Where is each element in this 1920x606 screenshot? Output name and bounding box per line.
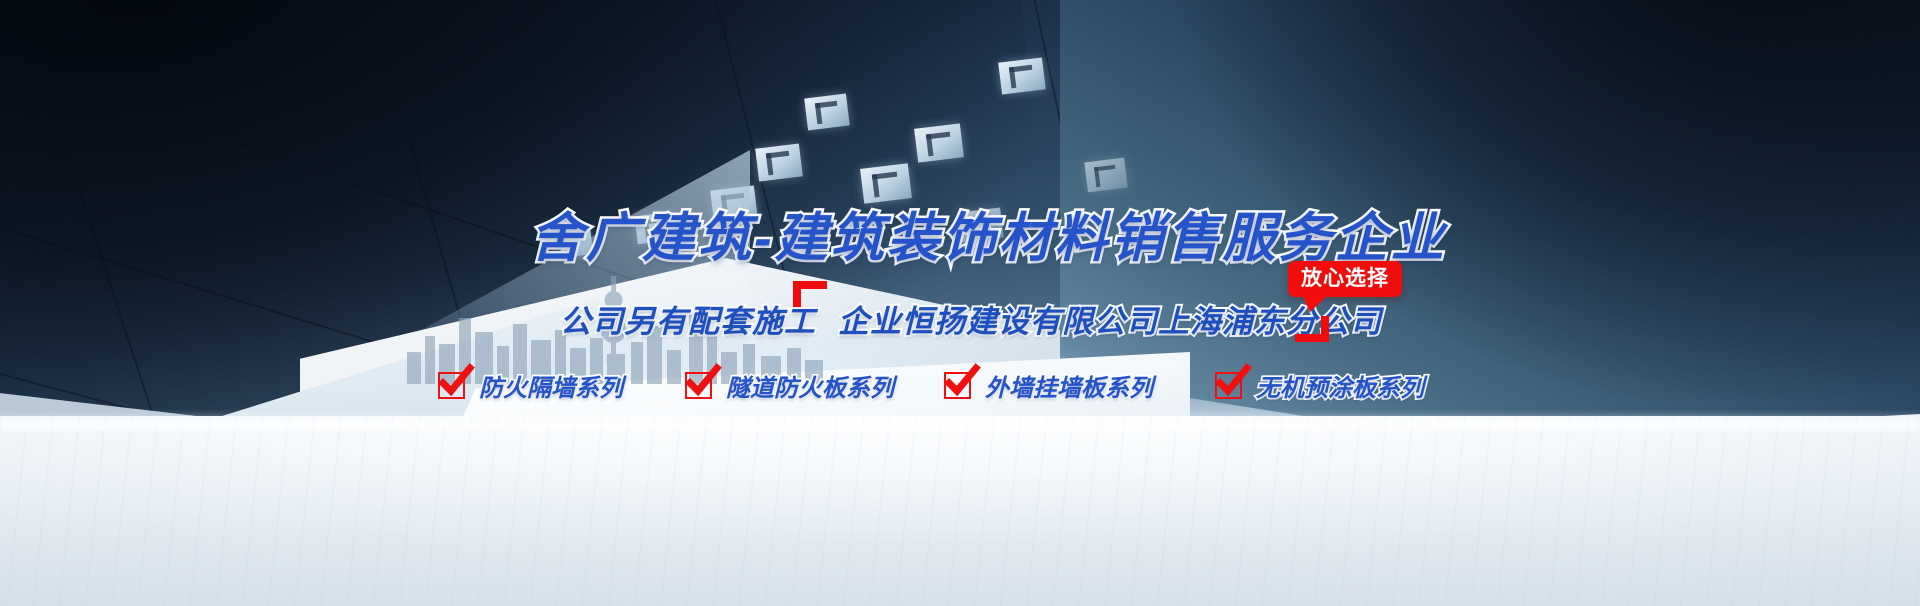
subtitle-row: 公司另有配套施工 企业恒扬建设有限公司上海浦东分公司 [560, 296, 1382, 341]
feature-label: 隧道防火板系列 [726, 368, 894, 403]
subtitle-left: 公司另有配套施工 [560, 296, 816, 341]
feature-item[interactable]: 隧道防火板系列 [685, 368, 894, 403]
checkmark-icon [1215, 372, 1242, 399]
banner-content: 舍广建筑-建筑装饰材料销售服务企业 公司另有配套施工 企业恒扬建设有限公司上海浦… [0, 0, 1920, 606]
feature-label: 外墙挂墙板系列 [985, 368, 1153, 403]
feature-item[interactable]: 无机预涂板系列 [1215, 368, 1424, 403]
checkmark-icon [438, 372, 465, 399]
feature-item[interactable]: 外墙挂墙板系列 [944, 368, 1153, 403]
corner-bracket-top-left-icon [793, 281, 827, 307]
promo-banner: 舍广建筑-建筑装饰材料销售服务企业 公司另有配套施工 企业恒扬建设有限公司上海浦… [0, 0, 1920, 606]
feature-label: 无机预涂板系列 [1256, 368, 1424, 403]
checkmark-icon [944, 372, 971, 399]
status-badge: 放心选择 [1288, 261, 1402, 297]
feature-item[interactable]: 防火隔墙系列 [438, 368, 623, 403]
feature-label: 防火隔墙系列 [479, 368, 623, 403]
checkmark-icon [685, 372, 712, 399]
corner-bracket-bottom-right-icon [1295, 316, 1329, 342]
feature-list: 防火隔墙系列 隧道防火板系列 外墙挂墙板系列 无机预涂板系列 [438, 368, 1424, 403]
